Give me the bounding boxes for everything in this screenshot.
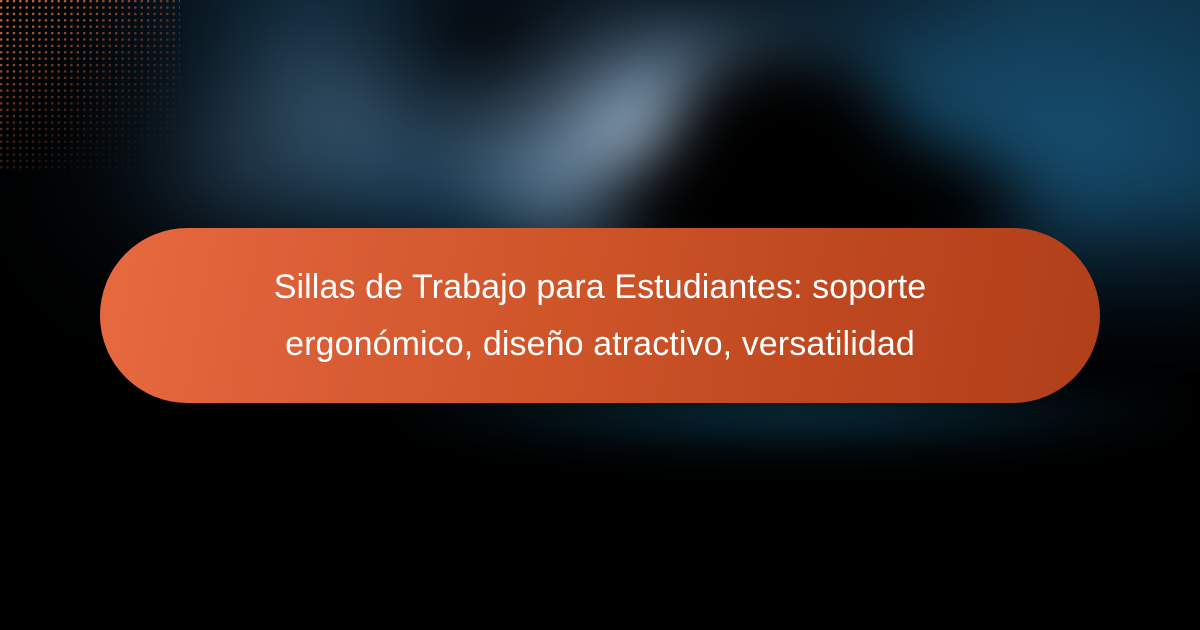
background-under-banner-glow <box>0 395 1200 465</box>
dot-grid-pattern-icon <box>0 0 180 170</box>
title-banner: Sillas de Trabajo para Estudiantes: sopo… <box>100 228 1100 403</box>
share-card: Sillas de Trabajo para Estudiantes: sopo… <box>0 0 1200 630</box>
page-title: Sillas de Trabajo para Estudiantes: sopo… <box>220 259 980 373</box>
